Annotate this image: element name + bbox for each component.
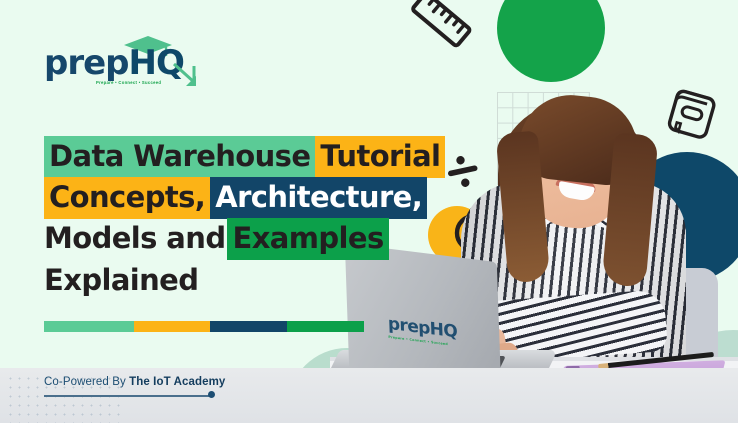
headline-line-3: Models andExamples [44, 218, 424, 259]
green-circle-decoration [497, 0, 605, 82]
logo-wordmark: prepHQ [44, 46, 184, 80]
headline-tutorial: Tutorial [315, 136, 445, 178]
footer-dot [208, 391, 215, 398]
accent-color-bar [44, 321, 364, 332]
headline-examples: Examples [227, 218, 388, 260]
page-title: Data WarehouseTutorial Concepts,Architec… [44, 136, 424, 301]
headline-line-4: Explained [44, 260, 424, 301]
footer-prefix: Co-Powered By [44, 376, 126, 388]
logo-tagline: Prepare • Connect • Succeed [96, 80, 161, 85]
laptop-logo-hq: HQ [429, 319, 457, 342]
logo-arrow-icon [172, 60, 198, 90]
colorbar-segment-mint [44, 321, 134, 332]
headline-concepts: Concepts, [44, 177, 210, 219]
colorbar-segment-amber [134, 321, 211, 332]
headline-models-and: Models and [44, 218, 227, 260]
prephq-logo[interactable]: prepHQ Prepare • Connect • Succeed [44, 36, 194, 88]
colorbar-segment-green [287, 321, 364, 332]
colorbar-segment-navy [210, 321, 287, 332]
logo-prep: prep [44, 43, 129, 83]
co-powered-credit: Co-Powered By The IoT Academy [44, 376, 225, 388]
footer-brand: The IoT Academy [129, 376, 225, 388]
ruler-icon [405, 0, 475, 52]
headline-line-2: Concepts,Architecture, [44, 177, 424, 218]
headline-architecture: Architecture, [210, 177, 427, 219]
footer-rule [44, 395, 212, 397]
banner-graphic: prepHQ Prepare • Connect • Succeed prepH… [0, 0, 738, 423]
headline-line-1: Data WarehouseTutorial [44, 136, 424, 177]
headline-explained: Explained [44, 260, 200, 302]
headline-data-warehouse: Data Warehouse [44, 136, 315, 178]
